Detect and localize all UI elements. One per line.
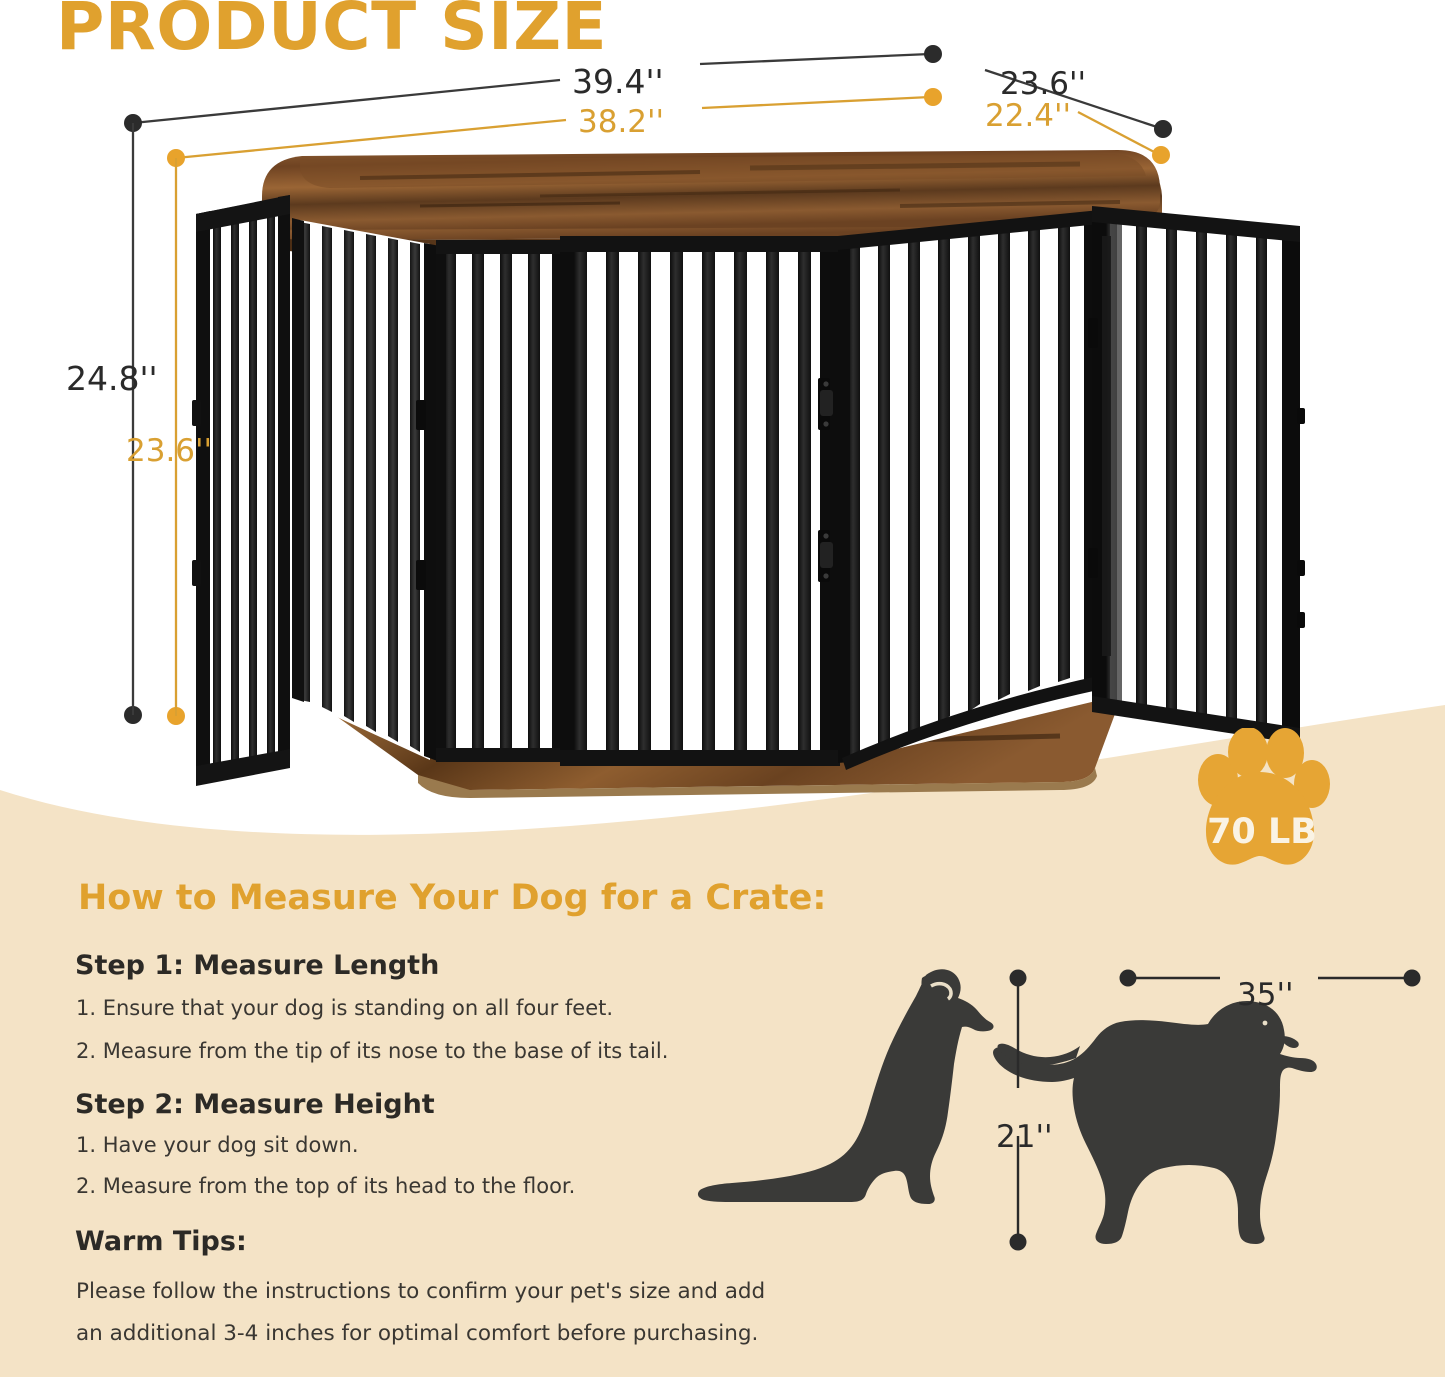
left-door <box>192 195 290 786</box>
step1-title: Step 1: Measure Length <box>75 950 439 981</box>
dimension-inner-width: 38.2'' <box>578 104 664 140</box>
warm-tips-title: Warm Tips: <box>75 1226 247 1257</box>
dimension-inner-depth: 22.4'' <box>985 98 1071 134</box>
howto-heading: How to Measure Your Dog for a Crate: <box>78 878 826 918</box>
step2-line2: 2. Measure from the top of its head to t… <box>76 1174 575 1198</box>
warm-tips-line2: an additional 3-4 inches for optimal com… <box>76 1321 758 1346</box>
paw-print-icon <box>1186 728 1334 878</box>
dog-dimension-lines <box>690 940 1445 1270</box>
step1-line1: 1. Ensure that your dog is standing on a… <box>76 996 613 1020</box>
step1-line2: 2. Measure from the tip of its nose to t… <box>76 1039 668 1063</box>
dog-height-label: 21'' <box>996 1119 1053 1155</box>
dimension-outer-width: 39.4'' <box>572 62 664 101</box>
dog-length-label: 35'' <box>1237 977 1294 1013</box>
right-door <box>1088 206 1305 744</box>
step2-line1: 1. Have your dog sit down. <box>76 1133 359 1157</box>
front-right-panel <box>838 210 1100 770</box>
front-left-panel <box>436 240 568 762</box>
infographic-canvas: PRODUCT SIZE <box>0 0 1445 1377</box>
dimension-inner-height: 23.6'' <box>126 433 212 469</box>
step2-title: Step 2: Measure Height <box>75 1089 435 1120</box>
left-side-panel <box>292 218 440 762</box>
front-main-door <box>560 236 840 766</box>
dimension-outer-depth: 23.6'' <box>1000 66 1086 102</box>
warm-tips-line1: Please follow the instructions to confir… <box>76 1279 765 1304</box>
dimension-outer-height: 24.8'' <box>66 359 158 398</box>
